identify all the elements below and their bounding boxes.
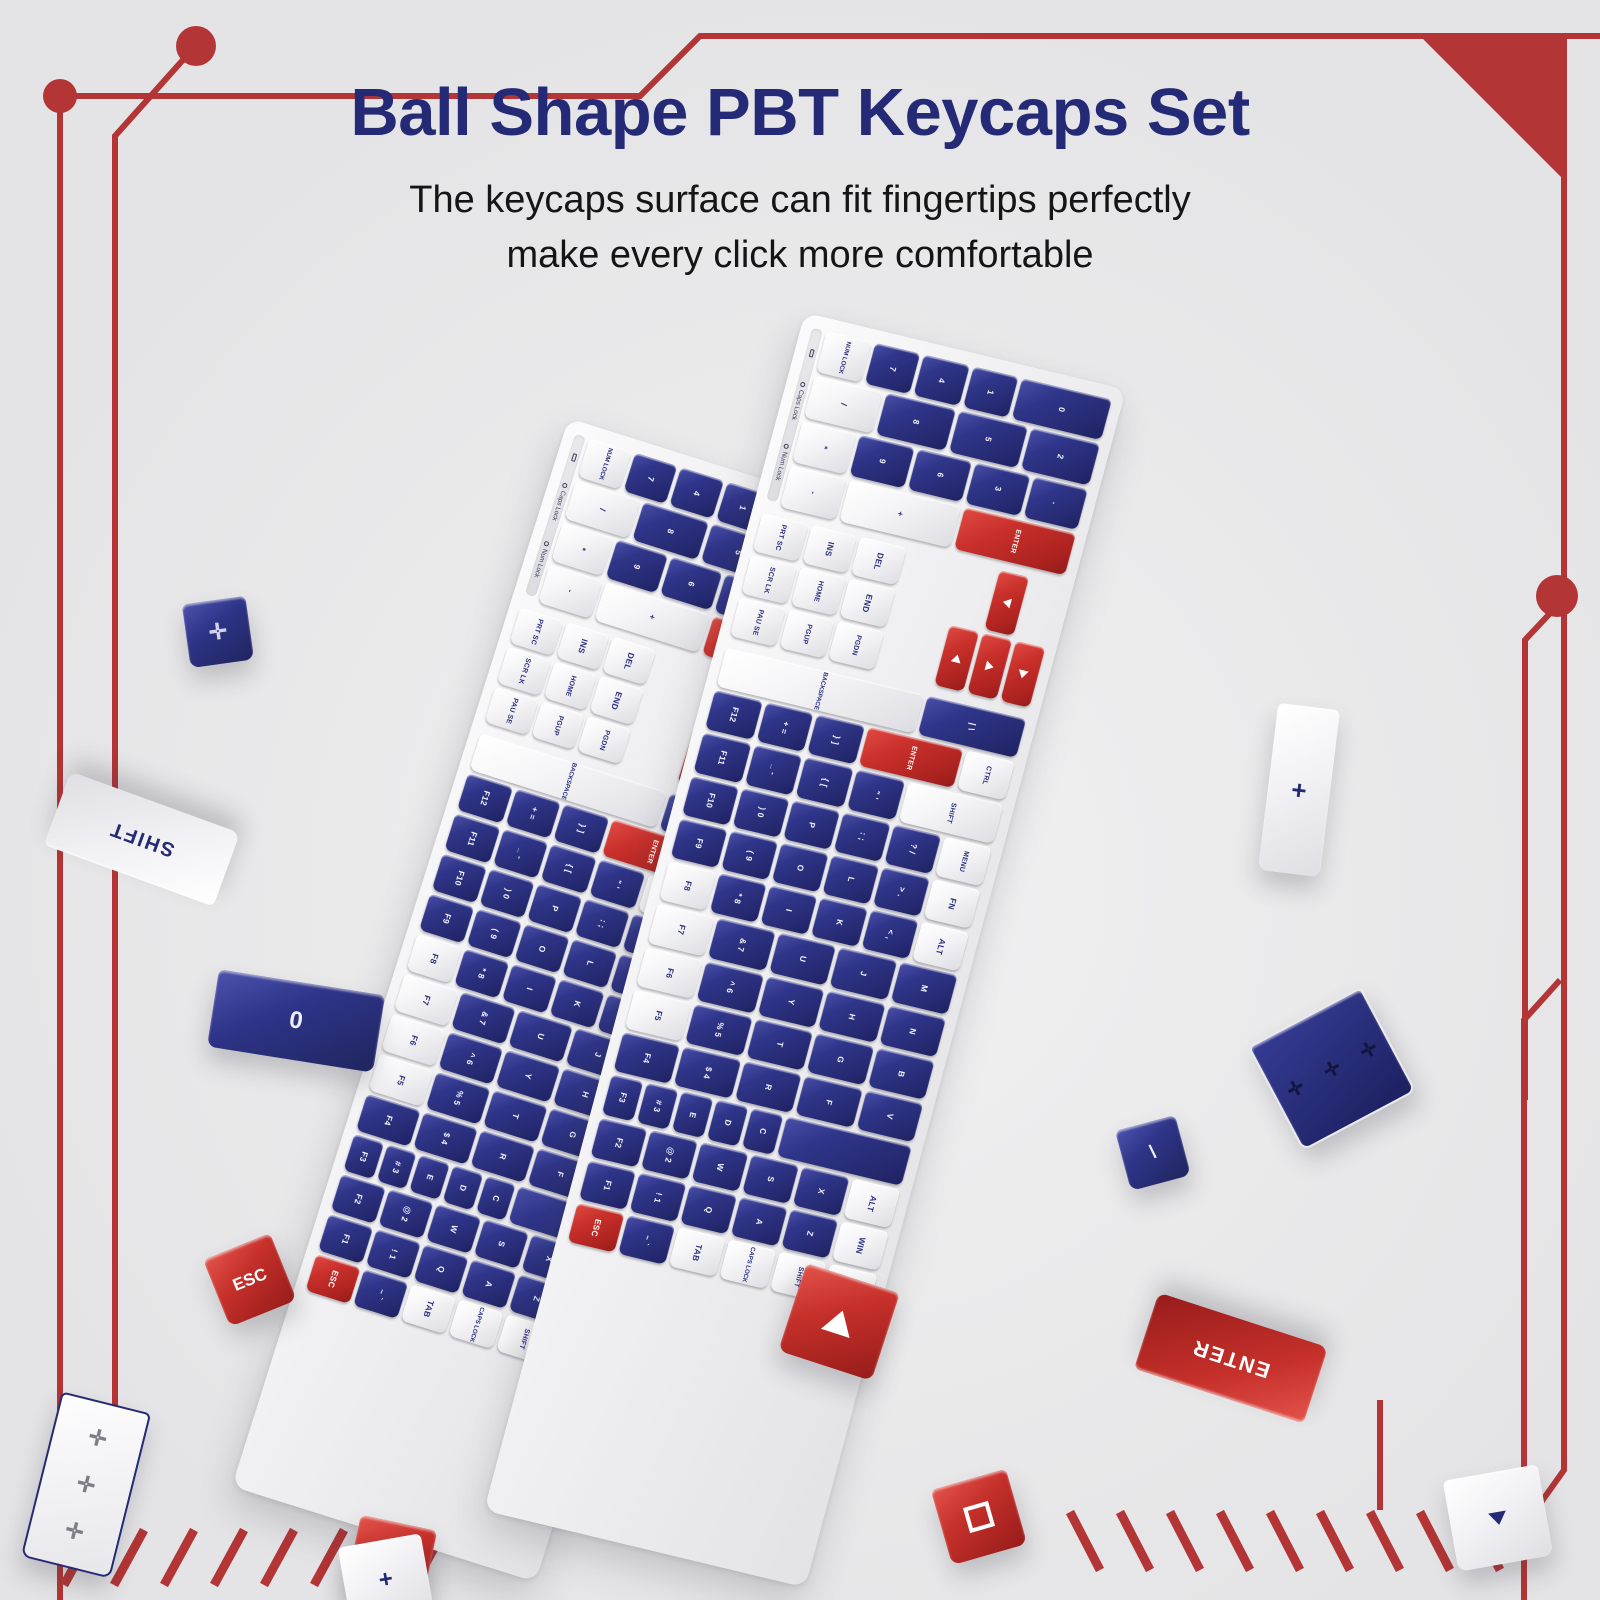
- keycap-blank[interactable]: } ]: [807, 715, 865, 765]
- floating-keycap-esc: ESC: [203, 1233, 297, 1327]
- keycap-label: F4: [382, 1114, 394, 1127]
- keycap-label: ( 9: [744, 849, 755, 861]
- keycap-label: # 3: [652, 1099, 664, 1113]
- keycap-label: ~ `: [375, 1288, 387, 1301]
- keycap-label: F7: [675, 924, 686, 936]
- keycap-label: 4: [937, 377, 947, 384]
- keycap-label: F6: [408, 1034, 420, 1047]
- keycap-label: F3: [358, 1150, 370, 1163]
- keycap-label: 6: [686, 580, 696, 587]
- keycap-label: T: [775, 1041, 785, 1048]
- keycap-label: ESC: [326, 1269, 340, 1289]
- keycap-label: : ;: [597, 918, 608, 929]
- keycap-tab[interactable]: TAB: [669, 1227, 726, 1277]
- keycap-label: ESC: [589, 1218, 602, 1238]
- keycap-label: G: [567, 1130, 578, 1139]
- indicator-label: Caps Lock: [790, 389, 805, 421]
- keycap-home[interactable]: HOME: [790, 567, 846, 616]
- keycap-label: +: [895, 510, 905, 517]
- keycap-blank[interactable]: -: [780, 466, 846, 520]
- keycap-label: } ]: [831, 734, 842, 745]
- battery-icon: [808, 349, 814, 358]
- keycap-label: U: [535, 1032, 545, 1041]
- keycap-caps-lock[interactable]: CAPS LOCK: [448, 1299, 503, 1349]
- square-outline-icon: [963, 1501, 995, 1533]
- keycap-label: 4: [692, 489, 702, 496]
- keycap-f12[interactable]: F12: [705, 690, 763, 740]
- keycap-label: P: [549, 904, 559, 912]
- keycap-label: F1: [340, 1233, 352, 1246]
- keycap-label: H: [847, 1012, 857, 1020]
- keycap-label: 3: [993, 486, 1003, 493]
- keycap-label: HOME: [812, 580, 825, 603]
- subtitle-line-2: make every click more comfortable: [0, 229, 1600, 281]
- keycap-label: T: [510, 1112, 520, 1120]
- keycap-pgup[interactable]: PGUP: [779, 609, 835, 658]
- keycap-label: A: [754, 1218, 764, 1226]
- keycap-4[interactable]: 4: [669, 467, 723, 518]
- keycap-0[interactable]: ) 0: [732, 788, 789, 838]
- keycap-label: CTRL: [980, 765, 992, 786]
- keycap-label: PGDN: [850, 634, 863, 656]
- floating-keycap-esc-label: ESC: [230, 1264, 270, 1296]
- keycap-label: : ;: [857, 832, 868, 843]
- keycap-label: ENTER: [904, 745, 918, 771]
- keycap-label: F9: [441, 912, 453, 925]
- keycap-label: F6: [664, 967, 675, 979]
- keycap-label: END: [860, 593, 873, 613]
- keycap-blank[interactable]: + =: [756, 702, 814, 752]
- floating-keycap-stabilizer-underside: ✛✛✛: [21, 1391, 151, 1578]
- floating-keycap-plus-bottom: +: [338, 1533, 435, 1600]
- led-icon: [543, 541, 549, 547]
- keycap-label: F8: [428, 952, 440, 965]
- keycap-label: ENTER: [1008, 528, 1022, 554]
- keycap-label: J: [858, 970, 868, 977]
- keycap-label: 7: [888, 365, 898, 372]
- keycap-label: S: [496, 1240, 506, 1248]
- keycap-label: INS: [823, 541, 836, 557]
- keycap-label: ALT: [865, 1194, 878, 1212]
- keycap-label: ~ `: [641, 1234, 652, 1247]
- keycap-label: N: [907, 1027, 917, 1035]
- keycap-label: ( 9: [488, 927, 500, 940]
- keycap-ins[interactable]: INS: [802, 525, 858, 574]
- keycap-label: NUM LOCK: [597, 447, 613, 481]
- floating-keycap-spacebar-underside: ✛✛✛: [1248, 987, 1416, 1151]
- keycap-label: DEL: [622, 651, 636, 671]
- keycap-blank[interactable]: : ;: [834, 812, 891, 862]
- keycap-label: F2: [352, 1193, 364, 1206]
- keycap-label: 9: [877, 458, 887, 465]
- keycap-label: WIN: [854, 1237, 867, 1256]
- keycap-label: ^ 6: [724, 980, 736, 994]
- keycap-label: F5: [653, 1009, 664, 1021]
- keycap-label: E: [687, 1111, 697, 1119]
- floating-keycap-backslash-label: \: [1148, 1142, 1159, 1165]
- keycap-tab[interactable]: TAB: [401, 1284, 456, 1334]
- keycap-label: @ 2: [663, 1146, 676, 1164]
- keycap-label: ? /: [907, 843, 918, 855]
- floating-keycap-shift: SHIFT: [44, 772, 240, 907]
- floating-keycap-shift-label: SHIFT: [106, 817, 178, 862]
- keycap-end[interactable]: END: [839, 579, 895, 628]
- keycap-label: ) 0: [501, 887, 513, 900]
- keycap-prt-sc[interactable]: PRT SC: [752, 513, 808, 562]
- keycap-f10[interactable]: F10: [682, 775, 739, 825]
- keycap-label: PGUP: [551, 714, 564, 736]
- keycap-q[interactable]: Q: [680, 1185, 737, 1235]
- keycap-pgdn[interactable]: PGDN: [577, 715, 631, 764]
- keycap-label: C: [491, 1194, 501, 1203]
- keycap-label: F11: [716, 750, 729, 766]
- keycap-9[interactable]: ( 9: [721, 830, 778, 880]
- keycap-menu[interactable]: MENU: [935, 836, 992, 886]
- keycap-label: O: [537, 944, 548, 953]
- keycap-label: PAU SE: [504, 697, 519, 725]
- keycap-label: E: [425, 1173, 435, 1181]
- keycap-6[interactable]: 6: [907, 449, 972, 503]
- keycap-label: D: [722, 1119, 732, 1127]
- keycap-label: _ -: [768, 764, 779, 776]
- keycap-label: F4: [641, 1052, 652, 1064]
- keycap-label: % 5: [452, 1090, 465, 1107]
- keycap-label: F11: [466, 830, 479, 847]
- keycap-label: U: [797, 955, 807, 963]
- keycap-blank[interactable]: " ': [847, 770, 905, 820]
- keycap-alt[interactable]: ALT: [912, 922, 969, 972]
- floating-keycap-plus-underside: ✛: [182, 596, 254, 668]
- keycap-caps-lock[interactable]: CAPS LOCK: [719, 1239, 776, 1289]
- keycap-label: NUM LOCK: [836, 340, 851, 374]
- keycap-label: F: [824, 1098, 834, 1105]
- arrow-down-icon: [1017, 669, 1029, 679]
- keycap-label: $ 4: [439, 1131, 451, 1146]
- keycap-label: F12: [727, 707, 740, 724]
- keycap-1[interactable]: 1: [962, 366, 1018, 418]
- keycap-3[interactable]: 3: [965, 462, 1030, 516]
- keycap-label: D: [458, 1183, 468, 1192]
- keycap-label: L: [585, 960, 595, 968]
- keycap-label: } ]: [576, 823, 587, 835]
- keycap-label: & 7: [736, 937, 748, 953]
- keycap-label: < ,: [884, 929, 895, 941]
- keycap-label: 6: [935, 472, 945, 479]
- keycap-label: BACKSPACE: [559, 761, 577, 800]
- keycap-label: TAB: [421, 1299, 435, 1318]
- keycap-label: PGUP: [800, 623, 813, 645]
- keycap-label: SCR LK: [516, 657, 531, 685]
- keycap-label: Z: [805, 1230, 815, 1237]
- keycap-ctrl[interactable]: CTRL: [957, 751, 1015, 801]
- keycap-z[interactable]: Z: [781, 1209, 838, 1259]
- keycap-label: ) 0: [755, 806, 766, 818]
- keycap-label: " ': [870, 789, 881, 800]
- keycap-label: 1: [985, 389, 995, 396]
- keycap-label: ALT: [934, 938, 947, 956]
- play-triangle-icon: [821, 1306, 857, 1338]
- arrow-up-icon: [950, 653, 962, 663]
- keycap-label: 8: [665, 527, 675, 534]
- keycap-label: 9: [632, 563, 642, 570]
- keycap-num-lock[interactable]: NUM LOCK: [816, 331, 872, 383]
- keycap-label: HOME: [563, 674, 577, 697]
- floating-keycap-backslash: \: [1115, 1115, 1191, 1191]
- keycap-del[interactable]: DEL: [851, 536, 907, 585]
- keycap-blank[interactable]: { [: [796, 757, 854, 807]
- keycap-blank[interactable]: ~ `: [618, 1215, 675, 1265]
- keycap-label: 8: [911, 419, 921, 426]
- keycap-label: 7: [646, 475, 656, 482]
- keycap-label: V: [885, 1113, 895, 1121]
- keycap-label: | \: [966, 722, 977, 732]
- keycap-pgdn[interactable]: PGDN: [828, 621, 884, 670]
- floating-keycap-zero-label: 0: [287, 1006, 305, 1036]
- keycap-f11[interactable]: F11: [693, 733, 751, 783]
- keycap-label: *: [578, 546, 588, 552]
- keycap-num-lock[interactable]: NUM LOCK: [578, 438, 632, 489]
- keycap-label: * 8: [476, 967, 488, 980]
- keycap-f8[interactable]: F8: [659, 861, 716, 911]
- keycap-label: K: [834, 918, 844, 926]
- keycap-label: F9: [693, 837, 704, 849]
- battery-indicator: [808, 349, 814, 358]
- keycap-f1[interactable]: F1: [579, 1160, 636, 1210]
- keycap-label: J: [593, 1051, 603, 1058]
- keycap-label: ! 1: [387, 1248, 399, 1261]
- keycap-label: PGDN: [597, 729, 610, 751]
- keycap-win[interactable]: WIN: [832, 1221, 889, 1271]
- keycap-blank[interactable]: *: [792, 421, 857, 475]
- keycap-d[interactable]: D: [442, 1165, 483, 1210]
- keycap-i[interactable]: I: [760, 885, 817, 935]
- keycap-label: S: [765, 1175, 775, 1183]
- keycap-label: F: [555, 1171, 565, 1179]
- floating-keycap-zero: 0: [207, 969, 385, 1072]
- keycap-label: 2: [1055, 453, 1065, 460]
- keycap-label: CAPS LOCK: [740, 1246, 756, 1283]
- keycap-s[interactable]: S: [742, 1154, 799, 1204]
- keycap-w[interactable]: W: [691, 1142, 748, 1192]
- keycap-label: +: [647, 614, 657, 622]
- floating-keycap-enter: ENTER: [1134, 1292, 1328, 1423]
- keycap-label: BACKSPACE: [812, 671, 828, 710]
- keycap-label: _ -: [515, 847, 527, 860]
- keycap-label: ! 1: [652, 1191, 663, 1203]
- keycap-f2[interactable]: F2: [590, 1118, 647, 1168]
- keycap-label: + =: [779, 720, 791, 735]
- led-icon: [562, 482, 568, 488]
- keycap-d[interactable]: D: [707, 1100, 749, 1146]
- keycap-label: H: [580, 1090, 590, 1099]
- keycap-label: { [: [563, 863, 574, 875]
- led-icon: [800, 381, 806, 387]
- arrow-right-icon: [984, 661, 994, 673]
- keycap-p[interactable]: P: [783, 800, 840, 850]
- keycap-label: PRT SC: [529, 618, 544, 646]
- keycap-label: SCR LK: [762, 566, 776, 594]
- keycap-label: " ': [612, 879, 623, 890]
- keycap-label: Y: [523, 1072, 533, 1080]
- keycap-7[interactable]: 7: [624, 453, 678, 504]
- keycap-label: G: [835, 1055, 845, 1064]
- floating-keycap-plus-bottom-label: +: [377, 1565, 396, 1595]
- keycap-label: -: [565, 589, 574, 595]
- keycap-blank[interactable]: _ -: [745, 745, 803, 795]
- keycap-x[interactable]: X: [793, 1166, 850, 1216]
- keycap-e[interactable]: E: [672, 1092, 714, 1138]
- keycap-blank[interactable]: ? /: [884, 824, 941, 874]
- keycap-label: F2: [613, 1137, 624, 1149]
- keycap-pau-se[interactable]: PAU SE: [485, 686, 539, 735]
- floating-keycap-arrow-down: [1443, 1464, 1554, 1571]
- keycap-blank[interactable]: < ,: [861, 910, 918, 960]
- keycap-label: I: [784, 908, 793, 913]
- keycap-label: Q: [436, 1264, 447, 1273]
- keycap-label: M: [919, 984, 930, 993]
- indicator-label: Num Lock: [774, 451, 788, 481]
- poster-canvas: Ball Shape PBT Keycaps Set The keycaps s…: [0, 0, 1600, 1600]
- keycap-label: # 3: [390, 1160, 402, 1175]
- keycap-label: $ 4: [702, 1066, 714, 1080]
- keycap-label: + =: [527, 806, 539, 821]
- floating-keycap-enter-label: ENTER: [1189, 1334, 1274, 1382]
- keycap-label: @ 2: [399, 1205, 412, 1223]
- keycap-label: F10: [704, 792, 717, 809]
- keycap-label: K: [572, 999, 582, 1008]
- keycap-alt[interactable]: ALT: [843, 1178, 900, 1228]
- keycap-label: R: [763, 1083, 773, 1091]
- keycap-k[interactable]: K: [811, 897, 868, 947]
- keycap-label: 5: [983, 436, 993, 443]
- floating-keycap-plus-right: +: [1258, 703, 1340, 877]
- keycap-label: 0: [1057, 406, 1067, 413]
- keycap-label: > .: [896, 886, 907, 898]
- keycap-label: C: [757, 1127, 767, 1135]
- keycap-3[interactable]: # 3: [637, 1083, 679, 1129]
- keycap-f9[interactable]: F9: [670, 818, 727, 868]
- battery-indicator: [570, 453, 576, 462]
- keycap-label: % 5: [713, 1022, 726, 1039]
- battery-icon: [570, 453, 576, 462]
- arrow-left-icon: [1001, 597, 1011, 609]
- keycap-label: .: [1051, 501, 1060, 506]
- keycap-label: Y: [786, 998, 796, 1006]
- keycap-blank[interactable]: .: [1023, 476, 1088, 530]
- keycap-label: P: [807, 821, 817, 829]
- keycap-c[interactable]: C: [742, 1108, 784, 1154]
- keycap-label: CAPS LOCK: [467, 1306, 484, 1343]
- keycap-label: W: [715, 1162, 726, 1172]
- keycap-label: TAB: [690, 1243, 703, 1262]
- keycap-scr-lk[interactable]: SCR LK: [741, 555, 797, 604]
- keycap-label: F5: [395, 1074, 407, 1087]
- keycap-a[interactable]: A: [731, 1197, 788, 1247]
- arrow-down-icon: [1488, 1510, 1508, 1526]
- floating-keycap-square: [931, 1469, 1027, 1565]
- keycap-label: INS: [576, 638, 589, 655]
- page-title: Ball Shape PBT Keycaps Set: [0, 78, 1600, 148]
- keycap-label: Q: [703, 1205, 713, 1214]
- keycap-label: FN: [946, 897, 958, 910]
- keycap-esc[interactable]: ESC: [567, 1203, 624, 1253]
- keycap-label: -: [808, 490, 817, 495]
- keycap-label: F7: [420, 994, 432, 1007]
- keycap-label: B: [896, 1070, 906, 1078]
- keycap-label: /: [598, 507, 607, 512]
- keycap-blank[interactable]: ~ `: [353, 1269, 408, 1319]
- keycap-fn[interactable]: FN: [923, 879, 980, 929]
- keycap-label: W: [448, 1224, 459, 1235]
- keycap-label: PAU SE: [751, 608, 765, 636]
- subtitle-line-1: The keycaps surface can fit fingertips p…: [0, 174, 1600, 226]
- keycap-label: ^ 6: [465, 1051, 477, 1066]
- keycap-label: F1: [602, 1179, 613, 1191]
- keycap-f3[interactable]: F3: [602, 1075, 644, 1121]
- keycap-label: F3: [617, 1092, 628, 1104]
- keycap-label: { [: [819, 777, 830, 788]
- keycap-f3[interactable]: F3: [343, 1134, 384, 1179]
- floating-keycap-plus-right-label: +: [1290, 774, 1309, 807]
- keycap-label: END: [609, 690, 623, 710]
- keycap-esc[interactable]: ESC: [305, 1254, 360, 1304]
- keycap-9[interactable]: 9: [850, 435, 915, 489]
- keycap-4[interactable]: 4: [914, 355, 970, 407]
- keycap-pau-se[interactable]: PAU SE: [730, 597, 786, 646]
- keycap-label: A: [483, 1280, 493, 1289]
- keycap-blank[interactable]: > .: [873, 867, 930, 917]
- keycap-label: *: [820, 445, 830, 451]
- keycap-label: PRT SC: [773, 524, 787, 552]
- keycap-label: /: [839, 402, 848, 407]
- keycap-7[interactable]: 7: [865, 343, 921, 395]
- keycap-label: L: [846, 876, 856, 883]
- keycap-label: F8: [682, 880, 693, 892]
- keycap-label: O: [795, 863, 805, 872]
- keycap-8[interactable]: * 8: [710, 873, 767, 923]
- keycap-label: MENU: [957, 850, 970, 872]
- header-block: Ball Shape PBT Keycaps Set The keycaps s…: [0, 78, 1600, 281]
- keycap-label: F10: [453, 870, 466, 887]
- keycap-label: 1: [738, 504, 748, 511]
- keycap-o[interactable]: O: [772, 843, 829, 893]
- keycap-label: I: [525, 986, 534, 991]
- keycap-label: R: [497, 1152, 507, 1161]
- keycap-label: DEL: [872, 551, 885, 570]
- keycap-label: * 8: [732, 892, 744, 905]
- keycap-label: & 7: [477, 1010, 490, 1026]
- keycap-pgup[interactable]: PGUP: [531, 701, 585, 750]
- keycap-label: SHIFT: [945, 802, 958, 824]
- led-icon: [783, 444, 789, 450]
- keycap-label: X: [816, 1187, 826, 1195]
- keycap-1[interactable]: ! 1: [629, 1172, 686, 1222]
- keycap-l[interactable]: L: [822, 855, 879, 905]
- keycap-label: F12: [478, 790, 491, 807]
- keycap-2[interactable]: @ 2: [641, 1130, 698, 1180]
